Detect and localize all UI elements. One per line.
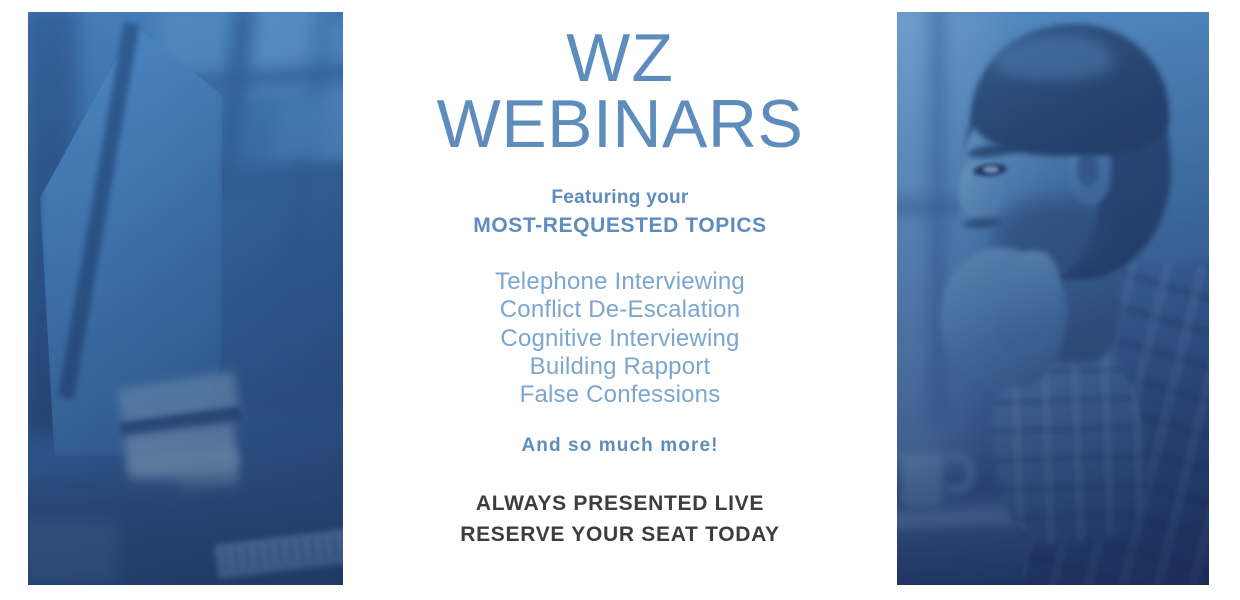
page-title: WZ WEBINARS (360, 0, 880, 158)
subtitle-line-1: Featuring your (551, 187, 688, 208)
list-item: Cognitive Interviewing (360, 325, 880, 353)
and-more-text: And so much more! (360, 435, 880, 457)
right-photo-duotone-tint (897, 12, 1209, 585)
subtitle: Featuring your MOST-REQUESTED TOPICS (360, 184, 880, 242)
cta-line-2: RESERVE YOUR SEAT TODAY (360, 520, 880, 550)
call-to-action: ALWAYS PRESENTED LIVE RESERVE YOUR SEAT … (360, 489, 880, 550)
cta-line-1: ALWAYS PRESENTED LIVE (360, 489, 880, 519)
left-photo-duotone-tint (28, 12, 343, 585)
page-title-line-2: WEBINARS (360, 92, 880, 158)
page-title-line-1: WZ (566, 20, 674, 96)
list-item: Conflict De-Escalation (360, 296, 880, 324)
list-item: False Confessions (360, 381, 880, 409)
subtitle-line-2: MOST-REQUESTED TOPICS (360, 211, 880, 241)
list-item: Building Rapport (360, 353, 880, 381)
webinar-promo-poster: WZ WEBINARS Featuring your MOST-REQUESTE… (0, 0, 1240, 600)
left-photo-monitor (28, 12, 343, 585)
right-photo-content (897, 12, 1209, 585)
right-photo-man-thinking (897, 12, 1209, 585)
list-item: Telephone Interviewing (360, 268, 880, 296)
topics-list: Telephone Interviewing Conflict De-Escal… (360, 268, 880, 410)
center-text-column: WZ WEBINARS Featuring your MOST-REQUESTE… (360, 0, 880, 600)
left-photo-content (28, 12, 343, 585)
